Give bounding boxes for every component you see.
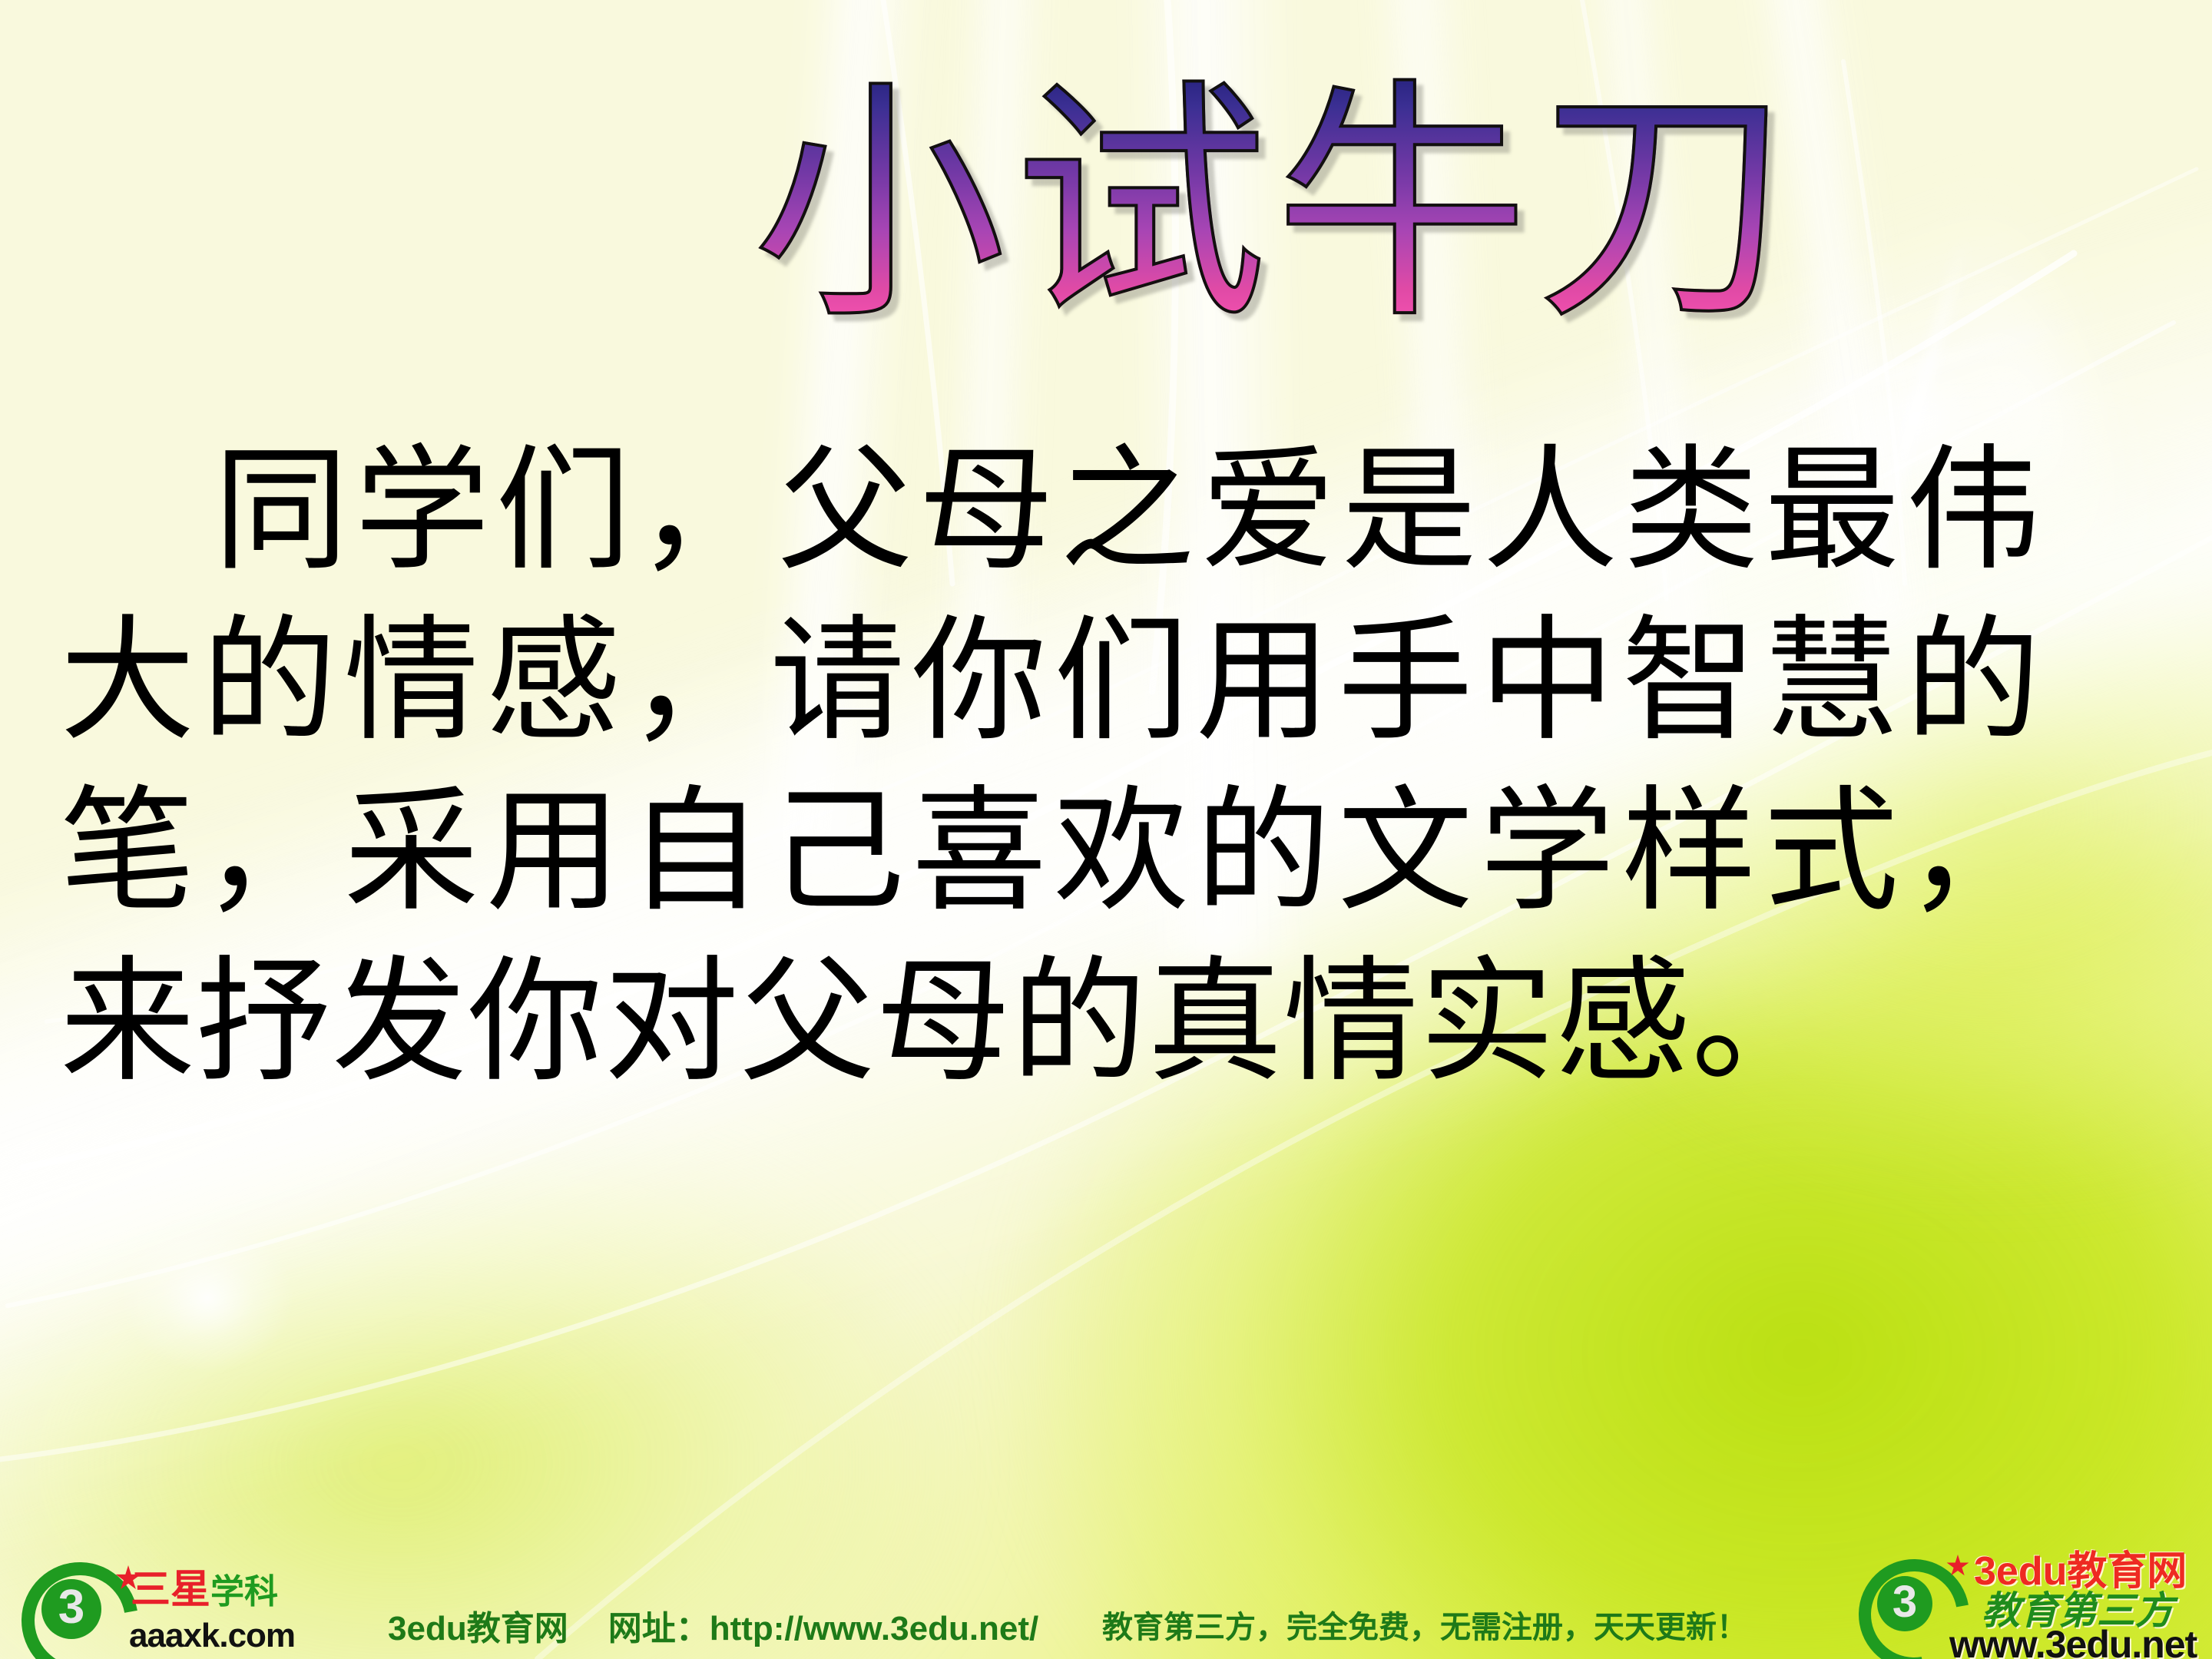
logo-url[interactable]: aaaxk.com <box>129 1619 295 1653</box>
logo-digit: 3 <box>1877 1576 1932 1631</box>
footer-site-info: 3edu教育网网址：http://www.3edu.net/ <box>388 1601 1038 1650</box>
slide-canvas: 小试牛刀 同学们，父母之爱是人类最伟大的情感，请你们用手中智慧的笔，采用自己喜欢… <box>0 0 2212 1659</box>
footer-slogan: 教育第三方，完全免费，无需注册，天天更新！ <box>1102 1602 1747 1647</box>
logo-brand-red: 三星 <box>131 1568 210 1612</box>
footer-site-name: 3edu教育网 <box>388 1610 568 1647</box>
logo-title: 3edu教育网 <box>1974 1551 2187 1591</box>
body-paragraph: 同学们，父母之爱是人类最伟大的情感，请你们用手中智慧的笔，采用自己喜欢的文学样式… <box>60 427 2041 1109</box>
logo-3edu[interactable]: 3 3edu教育网 教育第三方 www.3edu.net <box>1853 1545 2212 1659</box>
logo-digit: 3 <box>41 1579 101 1639</box>
page-title: 小试牛刀 <box>753 74 1797 343</box>
logo-brand-green: 学科 <box>210 1573 278 1611</box>
logo-aaaxk[interactable]: 3 三星学科 aaaxk.com <box>17 1556 293 1657</box>
logo-url[interactable]: www.3edu.net <box>1949 1625 2197 1659</box>
logo-brand-name: 三星学科 <box>131 1570 278 1610</box>
footer-url[interactable]: 网址：http://www.3edu.net/ <box>608 1610 1039 1647</box>
